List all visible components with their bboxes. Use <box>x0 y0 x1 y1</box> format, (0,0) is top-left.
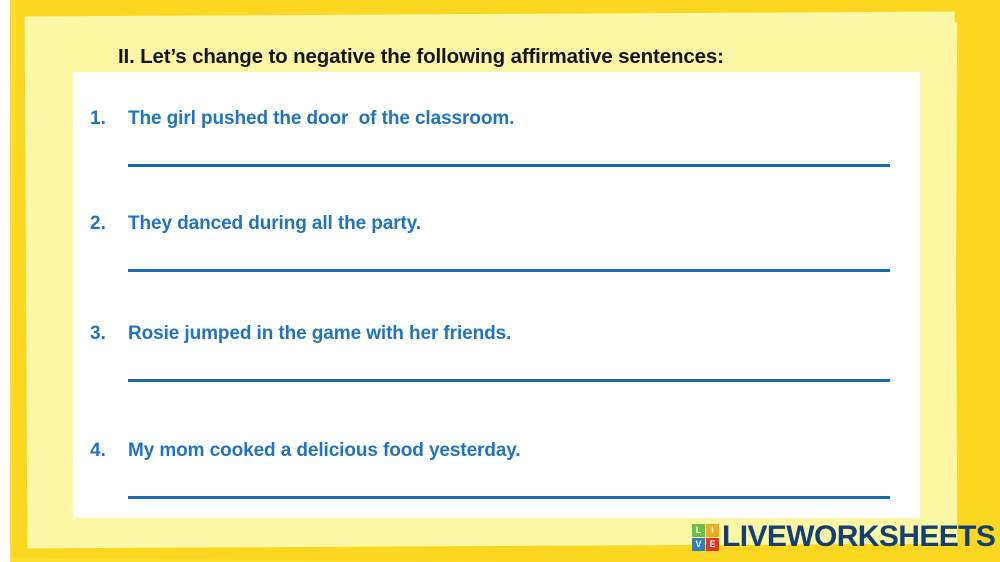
question-text: They danced during all the party. <box>128 213 421 235</box>
question-text: My mom cooked a delicious food yesterday… <box>128 440 521 462</box>
list-item: 3. Rosie jumped in the game with her fri… <box>73 323 920 353</box>
question-row: 4. My mom cooked a delicious food yester… <box>73 440 920 470</box>
list-item: 1. The girl pushed the door of the class… <box>73 108 920 138</box>
badge-cell-i: I <box>706 524 719 537</box>
badge-cell-e: E <box>706 538 719 551</box>
live-badge-icon: L I V E <box>692 524 719 551</box>
left-edge-strip <box>0 0 10 562</box>
question-number: 4. <box>90 440 106 462</box>
worksheet-page: II. Let’s change to negative the followi… <box>0 0 1000 562</box>
badge-cell-l: L <box>692 524 705 537</box>
question-number: 2. <box>90 213 106 235</box>
question-number: 1. <box>90 108 106 130</box>
answer-line[interactable] <box>128 269 890 272</box>
question-row: 1. The girl pushed the door of the class… <box>73 108 920 138</box>
question-row: 2. They danced during all the party. <box>73 213 920 243</box>
question-number: 3. <box>90 323 106 345</box>
question-text: The girl pushed the door of the classroo… <box>128 108 514 130</box>
liveworksheets-logo[interactable]: L I V E LIVEWORKSHEETS <box>692 518 995 556</box>
answer-line[interactable] <box>128 379 890 382</box>
worksheet-card: 1. The girl pushed the door of the class… <box>73 72 920 518</box>
question-row: 3. Rosie jumped in the game with her fri… <box>73 323 920 353</box>
page-title: II. Let’s change to negative the followi… <box>118 45 918 69</box>
list-item: 4. My mom cooked a delicious food yester… <box>73 440 920 470</box>
badge-cell-v: V <box>692 538 705 551</box>
question-text: Rosie jumped in the game with her friend… <box>128 323 511 345</box>
answer-line[interactable] <box>128 164 890 167</box>
answer-line[interactable] <box>128 496 890 499</box>
list-item: 2. They danced during all the party. <box>73 213 920 243</box>
logo-wordmark: LIVEWORKSHEETS <box>722 522 995 552</box>
